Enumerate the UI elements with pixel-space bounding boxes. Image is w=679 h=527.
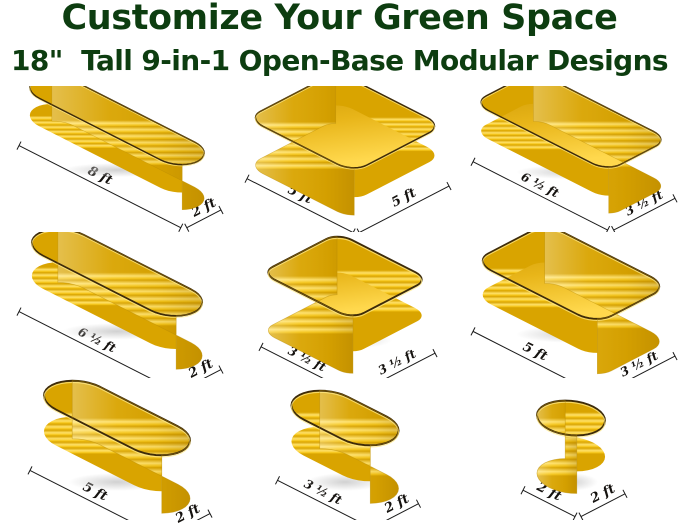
- garden-bed-cell-bed-6-5ft-x-2ft[interactable]: 6 ½ ft2 ft: [4, 232, 230, 378]
- garden-bed-cell-bed-2ft-x-2ft[interactable]: 2 ft2 ft: [458, 374, 679, 520]
- garden-bed-cell-bed-5ft-x-5ft[interactable]: 5 ft5 ft: [232, 86, 458, 232]
- garden-bed-illustration-bed-6-5ft-x-2ft: [4, 232, 230, 378]
- garden-bed-illustration-bed-5ft-x-2ft: [4, 374, 230, 520]
- garden-bed-cell-bed-3-5ft-x-3-5ft[interactable]: 3 ½ ft3 ½ ft: [232, 232, 458, 378]
- infographic-canvas: Customize Your Green Space 18" Tall 9-in…: [0, 0, 679, 518]
- garden-bed-cell-bed-5ft-x-2ft[interactable]: 5 ft2 ft: [4, 374, 230, 520]
- page-subtitle: 18" Tall 9-in-1 Open-Base Modular Design…: [0, 44, 679, 77]
- garden-bed-cell-bed-3-5ft-x-2ft[interactable]: 3 ½ ft2 ft: [232, 374, 458, 520]
- garden-bed-cell-bed-5ft-x-3-5ft[interactable]: 5 ft3 ½ ft: [458, 232, 679, 378]
- garden-bed-illustration-bed-5ft-x-5ft: [232, 86, 458, 232]
- garden-bed-cell-bed-6-5ft-x-3-5ft[interactable]: 6 ½ ft3 ½ ft: [458, 86, 679, 232]
- garden-bed-illustration-bed-8ft-x-2ft: [4, 86, 230, 232]
- garden-bed-illustration-bed-6-5ft-x-3-5ft: [458, 86, 679, 232]
- dimension-line-bed-8ft-x-2ft-width: [185, 206, 223, 232]
- dimension-line-bed-2ft-x-2ft-width: [579, 490, 627, 520]
- garden-bed-illustration-bed-3-5ft-x-2ft: [232, 374, 458, 520]
- page-title: Customize Your Green Space: [0, 0, 679, 38]
- garden-bed-cell-bed-8ft-x-2ft[interactable]: 8 ft2 ft: [4, 86, 230, 232]
- garden-bed-illustration-bed-2ft-x-2ft: [458, 374, 679, 520]
- garden-bed-illustration-bed-5ft-x-3-5ft: [458, 232, 679, 378]
- garden-bed-illustration-bed-3-5ft-x-3-5ft: [232, 232, 458, 378]
